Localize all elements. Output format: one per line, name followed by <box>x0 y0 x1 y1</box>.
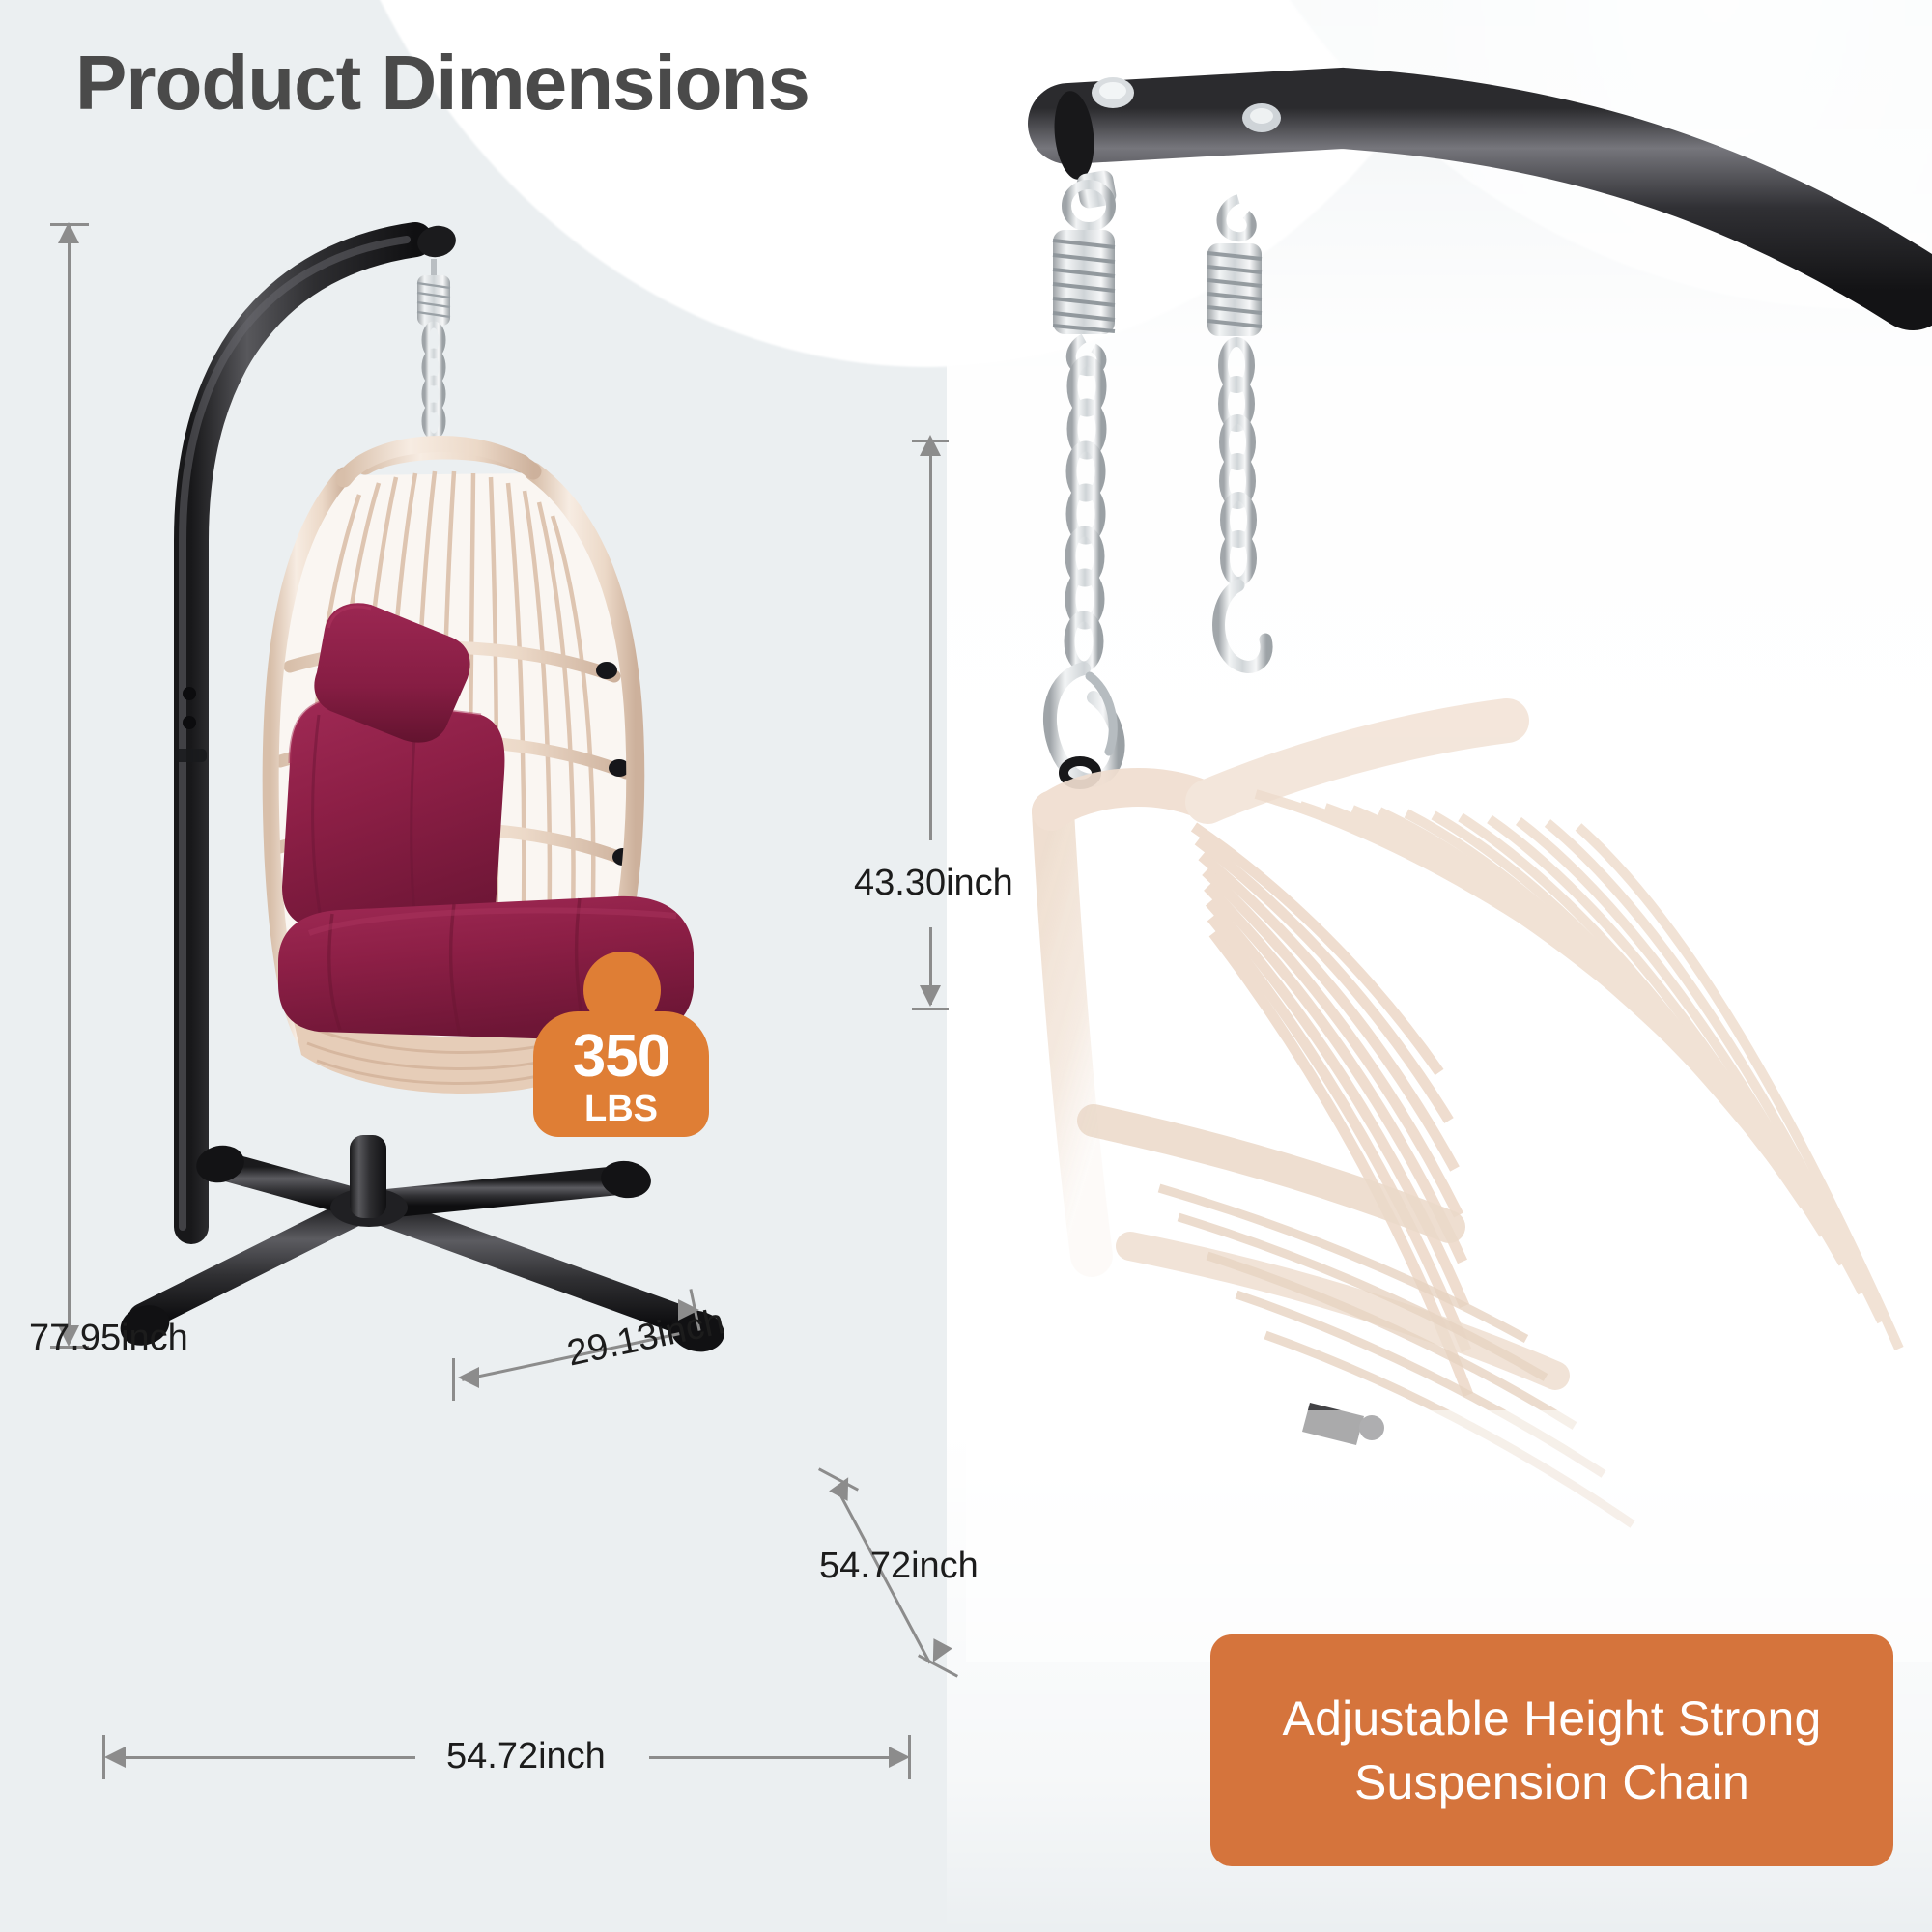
base-width-tick-right <box>908 1735 911 1779</box>
overall-height-tick-top <box>50 223 89 226</box>
base-width-tick-left <box>102 1735 105 1779</box>
right-suspension-assembly <box>1207 199 1266 667</box>
chain-links-left <box>1069 361 1101 667</box>
chair-width-tick-left <box>452 1358 455 1401</box>
chair-height-arrow-top <box>920 435 941 456</box>
chain-links-right <box>1223 342 1252 582</box>
base-width-line-right <box>649 1756 889 1759</box>
feature-callout-text: Adjustable Height Strong Suspension Chai… <box>1260 1687 1845 1814</box>
chair-height-line-top <box>929 454 932 840</box>
left-suspension-assembly <box>1050 169 1119 784</box>
infographic-canvas: Product Dimensions 77.95inch 43.30inch 2… <box>0 0 1932 1932</box>
callout-line-1: Adjustable Height Strong <box>1283 1691 1822 1746</box>
chair-height-tick-top <box>912 440 949 442</box>
chair-height-label: 43.30inch <box>854 863 1013 904</box>
base-depth-label: 54.72inch <box>819 1546 979 1587</box>
page-title: Product Dimensions <box>75 44 810 122</box>
suspension-chain-detail-group <box>966 77 1932 1662</box>
chair-height-tick-bottom <box>912 1008 949 1010</box>
overall-height-line <box>68 243 71 1325</box>
base-width-label: 54.72inch <box>446 1736 606 1777</box>
weight-badge-text: 350 LBS <box>533 1027 709 1127</box>
chair-height-arrow-bottom <box>920 985 941 1007</box>
base-width-arrow-right <box>889 1747 910 1768</box>
feature-callout-box: Adjustable Height Strong Suspension Chai… <box>1210 1634 1893 1866</box>
base-width-line-left <box>126 1756 415 1759</box>
left-spring-chain <box>417 259 450 437</box>
chair-width-arrow-left <box>458 1367 479 1388</box>
weight-capacity-badge: 350 LBS <box>533 952 709 1137</box>
weight-badge-number: 350 <box>533 1027 709 1087</box>
weight-badge-unit: LBS <box>533 1091 709 1127</box>
callout-line-2: Suspension Chain <box>1354 1755 1749 1809</box>
chair-and-stand-group <box>115 222 728 1356</box>
right-chair-wicker <box>966 721 1932 1662</box>
base-width-arrow-left <box>104 1747 126 1768</box>
overall-height-label: 77.95inch <box>29 1318 188 1359</box>
